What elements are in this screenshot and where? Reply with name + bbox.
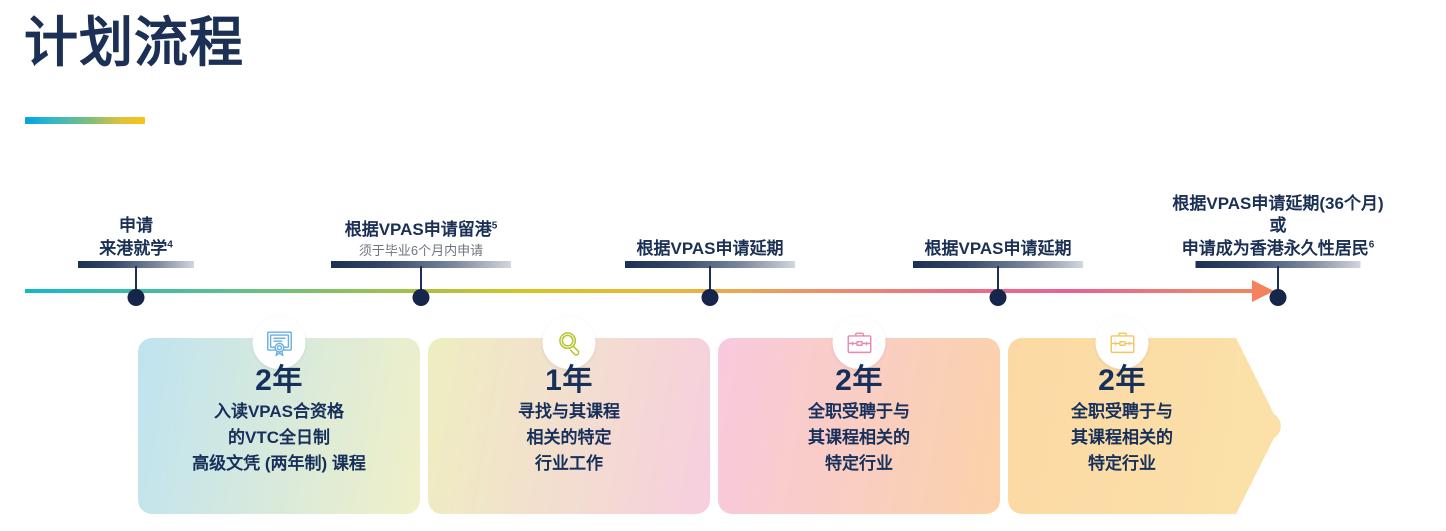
briefcase-icon	[833, 316, 886, 369]
timeline-milestone-label: 根据VPAS申请留港5	[345, 219, 498, 241]
page-title: 计划流程	[24, 14, 244, 73]
stage-card-description-line: 其课程相关的	[718, 426, 1000, 450]
timeline-milestone-dot[interactable]	[990, 289, 1007, 306]
timeline-milestone-label-group: 根据VPAS申请延期	[924, 238, 1071, 260]
infographic-root: 计划流程 申请来港就学4根据VPAS申请留港5须于毕业6个月内申请根据VPAS申…	[0, 0, 1446, 531]
stage-card-description-line: 相关的特定	[428, 426, 710, 450]
timeline-milestone-subtext: 须于毕业6个月内申请	[345, 242, 498, 260]
stage-card-stage-4[interactable]: 2年全职受聘于与其课程相关的特定行业	[1008, 338, 1236, 514]
stage-card-description-line: 特定行业	[1008, 452, 1236, 476]
stage-card-stage-2[interactable]: 1年寻找与其课程相关的特定行业工作	[428, 338, 710, 514]
stage-card-description-line: 寻找与其课程	[428, 400, 710, 424]
stage-card-description-line: 全职受聘于与	[718, 400, 1000, 424]
stage-card-duration: 1年	[428, 364, 710, 398]
stage-card-description-line: 特定行业	[718, 452, 1000, 476]
footnote-marker: 6	[1369, 239, 1375, 250]
stage-card-duration: 2年	[718, 364, 1000, 398]
title-underline-rule	[25, 117, 145, 124]
stage-card-description-line: 高级文凭 (两年制) 课程	[138, 452, 420, 476]
stage-cards: 2年入读VPAS合资格的VTC全日制高级文凭 (两年制) 课程1年寻找与其课程相…	[0, 338, 1446, 514]
timeline-milestone-dot[interactable]	[702, 289, 719, 306]
stage-card-content: 2年全职受聘于与其课程相关的特定行业	[718, 364, 1000, 476]
timeline-milestone-dot[interactable]	[413, 289, 430, 306]
briefcase-icon	[1096, 316, 1149, 369]
stage-card-duration: 2年	[1008, 364, 1236, 398]
stage-card-duration: 2年	[138, 364, 420, 398]
timeline-milestone-label: 申请	[99, 215, 173, 237]
stage-card-content: 2年入读VPAS合资格的VTC全日制高级文凭 (两年制) 课程	[138, 364, 420, 476]
stage-card-description-line: 行业工作	[428, 452, 710, 476]
stage-card-stage-1[interactable]: 2年入读VPAS合资格的VTC全日制高级文凭 (两年制) 课程	[138, 338, 420, 514]
timeline-milestone-label-group: 根据VPAS申请延期	[636, 238, 783, 260]
timeline-milestone-label: 或	[1172, 215, 1383, 237]
stage-card-stage-3[interactable]: 2年全职受聘于与其课程相关的特定行业	[718, 338, 1000, 514]
certificate-icon	[253, 316, 306, 369]
stage-card-description-line: 全职受聘于与	[1008, 400, 1236, 424]
timeline-milestone-label: 根据VPAS申请延期	[636, 238, 783, 260]
timeline-milestone-label: 根据VPAS申请延期(36个月)	[1172, 193, 1383, 215]
timeline-milestone-label: 申请成为香港永久性居民6	[1172, 238, 1383, 260]
timeline-milestone-label-group: 根据VPAS申请延期(36个月)或申请成为香港永久性居民6	[1172, 193, 1383, 260]
timeline-milestone-label-group: 申请来港就学4	[99, 215, 173, 260]
timeline-milestone-label: 根据VPAS申请延期	[924, 238, 1071, 260]
timeline-milestone-dot[interactable]	[1270, 289, 1287, 306]
stage-card-content: 1年寻找与其课程相关的特定行业工作	[428, 364, 710, 476]
magnifier-icon	[543, 316, 596, 369]
timeline-milestone-dot[interactable]	[128, 289, 145, 306]
timeline: 申请来港就学4根据VPAS申请留港5须于毕业6个月内申请根据VPAS申请延期根据…	[0, 150, 1446, 310]
footnote-marker: 5	[492, 220, 498, 231]
stage-card-content: 2年全职受聘于与其课程相关的特定行业	[1008, 364, 1236, 476]
footnote-marker: 4	[167, 239, 173, 250]
stage-card-description-line: 其课程相关的	[1008, 426, 1236, 450]
stage-card-chevron-icon	[1236, 338, 1300, 514]
timeline-milestone-label-group: 根据VPAS申请留港5须于毕业6个月内申请	[345, 219, 498, 260]
stage-card-description-line: 入读VPAS合资格	[138, 400, 420, 424]
stage-card-description-line: 的VTC全日制	[138, 426, 420, 450]
timeline-milestone-label: 来港就学4	[99, 238, 173, 260]
timeline-axis-line	[25, 289, 1270, 293]
